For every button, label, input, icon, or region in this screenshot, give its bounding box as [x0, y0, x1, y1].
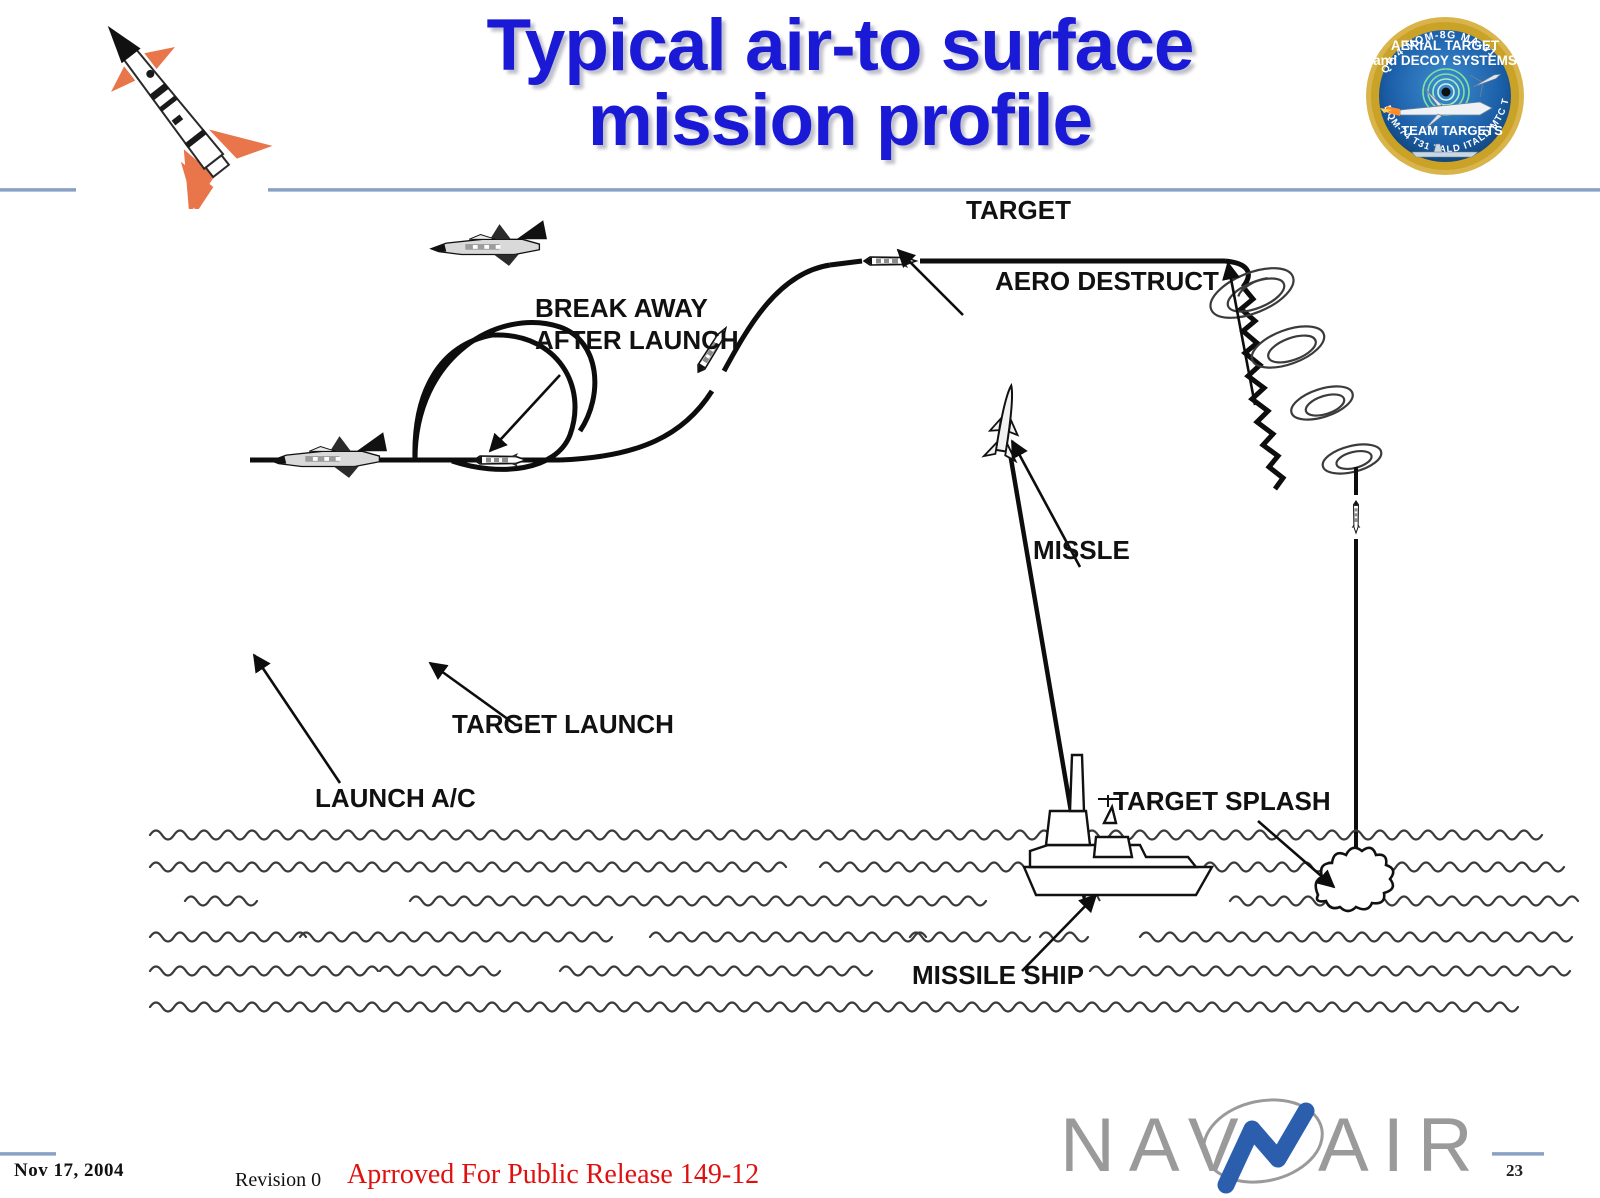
footer-page-number: 23 — [1506, 1161, 1523, 1181]
drone-icon-falling — [1352, 501, 1361, 533]
navair-logo: NAV AIR — [1030, 1089, 1500, 1194]
label-launch-ac: LAUNCH A/C — [315, 783, 476, 813]
label-target: TARGET — [966, 195, 1071, 225]
label-break-away-line1: BREAK AWAY — [535, 293, 708, 323]
title-block: Typical air-to surface mission profile — [350, 8, 1330, 158]
footer-release-tag: Aprroved For Public Release 149-12 — [347, 1159, 759, 1191]
label-break-away-line2: AFTER LAUNCH — [535, 325, 739, 355]
drone-icon-launch — [474, 453, 526, 467]
slide-header: Typical air-to surface mission profile — [0, 0, 1600, 195]
slide-footer: NAV AIR Nov 17, 2004 Revision 0 Aprroved… — [0, 1085, 1600, 1198]
slide-canvas: Typical air-to surface mission profile — [0, 0, 1600, 1198]
target-drone-artwork — [55, 0, 295, 209]
label-target-splash: TARGET SPLASH — [1113, 786, 1331, 816]
footer-revision: Revision 0 — [235, 1169, 321, 1192]
label-missle: MISSLE — [1033, 535, 1130, 565]
page-title: Typical air-to surface mission profile — [350, 8, 1330, 158]
seal-line3: TEAM TARGETS — [1401, 123, 1503, 138]
path-aero-destruct-tumble — [1241, 287, 1283, 489]
label-aero-destruct: AERO DESTRUCT — [995, 266, 1219, 296]
label-missile-ship: MISSILE SHIP — [912, 960, 1084, 990]
seal-line1: AERIAL TARGET — [1391, 38, 1500, 53]
footer-rule-left — [0, 1152, 56, 1156]
aircraft-launch-lower — [271, 432, 387, 478]
path-missile-trajectory — [1010, 453, 1075, 835]
label-target-launch: TARGET LAUNCH — [452, 709, 674, 739]
header-rule-right — [268, 188, 1600, 192]
footer-date: Nov 17, 2004 — [14, 1160, 124, 1182]
missile-ship-icon — [1024, 755, 1212, 895]
tumble-swirls — [1204, 258, 1385, 479]
mission-profile-diagram: BREAK AWAY AFTER LAUNCH TARGET AERO DEST… — [0, 195, 1600, 1085]
missile-icon — [984, 383, 1027, 461]
navair-text-right: AIR — [1318, 1103, 1487, 1188]
header-rule-left — [0, 188, 76, 192]
aircraft-breakaway-upper — [431, 220, 547, 266]
target-splash-icon — [1316, 848, 1393, 911]
team-targets-seal-logo: QF-4 MQM-8G MA-31 BQM-74 T31 TALD ITALD … — [1358, 8, 1533, 183]
seal-line2: and DECOY SYSTEMS — [1373, 53, 1517, 68]
